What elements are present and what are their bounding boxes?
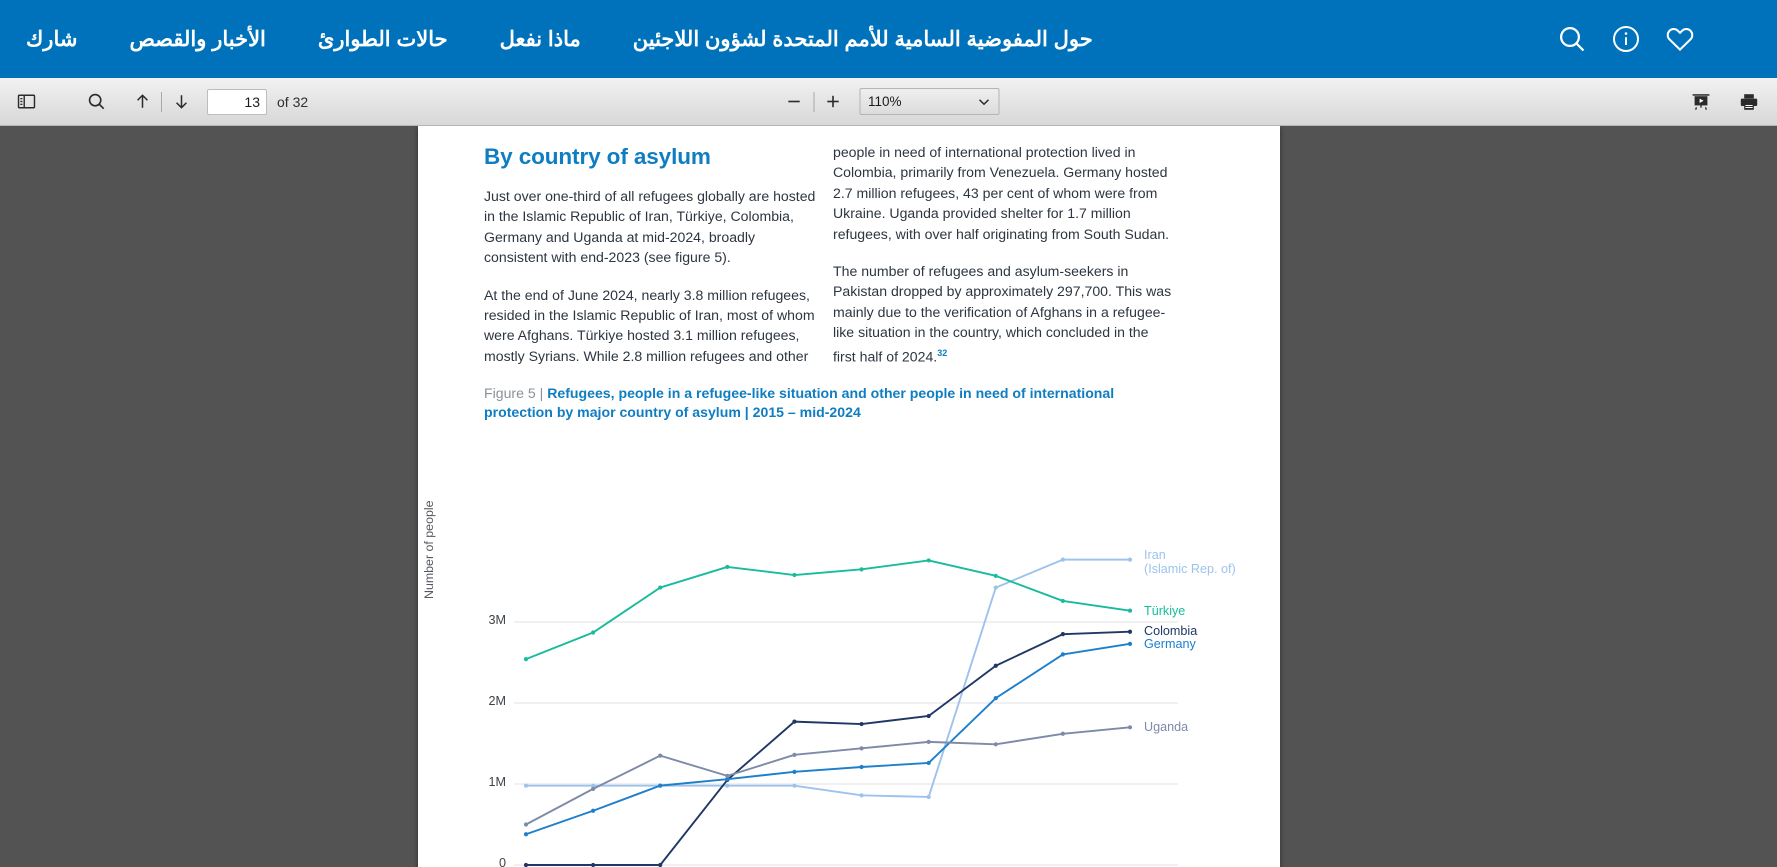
data-point: [1061, 558, 1065, 562]
data-point: [994, 574, 998, 578]
series-label-sublabel: (Islamic Rep. of): [1144, 562, 1236, 577]
data-point: [1128, 609, 1132, 613]
data-point: [725, 565, 729, 569]
nav-link-emergencies[interactable]: حالات الطوارئ: [292, 27, 474, 52]
pdf-toolbar-left-group: 13 of 32: [0, 87, 308, 117]
heart-icon[interactable]: [1665, 24, 1695, 54]
data-point: [1128, 558, 1132, 562]
paragraph: people in need of international protecti…: [833, 142, 1173, 244]
figure-caption-separator: |: [536, 385, 548, 401]
data-point: [658, 585, 662, 589]
y-axis-tick-label: 3M: [472, 613, 506, 627]
search-icon[interactable]: [1557, 24, 1587, 54]
nav-link-news-stories[interactable]: الأخبار والقصص: [103, 27, 291, 52]
find-search-icon[interactable]: [80, 87, 112, 117]
toolbar-divider: [813, 92, 814, 112]
data-point: [792, 720, 796, 724]
data-point: [927, 740, 931, 744]
data-point: [1128, 725, 1132, 729]
data-point: [994, 664, 998, 668]
nav-link-what-we-do[interactable]: ماذا نفعل: [474, 27, 607, 52]
info-icon[interactable]: [1611, 24, 1641, 54]
zoom-out-button[interactable]: [778, 87, 810, 117]
data-point: [994, 696, 998, 700]
figure-5-line-chart: Number of people 01M2M3M 201520162017201…: [418, 421, 1280, 867]
data-point: [524, 863, 528, 867]
data-point: [927, 714, 931, 718]
data-point: [1128, 630, 1132, 634]
footnote-marker[interactable]: 32: [937, 348, 947, 358]
series-legend-label: Türkiye: [1144, 604, 1185, 619]
site-navbar: حول المفوضية السامية للأمم المتحدة لشؤون…: [0, 0, 1777, 78]
section-heading: By country of asylum: [484, 144, 711, 170]
data-point: [591, 863, 595, 867]
next-page-arrow-down-icon[interactable]: [165, 87, 197, 117]
figure-number: Figure 5: [484, 385, 536, 401]
data-point: [591, 809, 595, 813]
data-point: [792, 753, 796, 757]
toolbar-divider: [161, 92, 162, 112]
sidebar-toggle-icon[interactable]: [10, 87, 42, 117]
series-label-name: Germany: [1144, 637, 1196, 652]
page-number-input[interactable]: 13: [207, 89, 267, 115]
body-text-right-column: people in need of international protecti…: [833, 142, 1173, 367]
data-point: [792, 573, 796, 577]
data-point: [859, 765, 863, 769]
data-point: [524, 822, 528, 826]
series-line: [526, 560, 1130, 797]
series-legend-label: Germany: [1144, 637, 1196, 652]
data-point: [927, 795, 931, 799]
nav-link-about[interactable]: حول المفوضية السامية للأمم المتحدة لشؤون…: [607, 27, 1119, 52]
data-point: [859, 567, 863, 571]
body-text-left-column: Just over one-third of all refugees glob…: [484, 186, 816, 366]
series-legend-label: Iran(Islamic Rep. of): [1144, 548, 1236, 577]
previous-page-arrow-up-icon[interactable]: [126, 87, 158, 117]
y-axis-tick-label: 0: [472, 856, 506, 867]
data-point: [792, 784, 796, 788]
pdf-toolbar-zoom-group: 110%: [778, 87, 999, 117]
figure-date-range: 2015 – mid-2024: [753, 404, 861, 420]
series-line: [526, 632, 1130, 865]
paragraph: At the end of June 2024, nearly 3.8 mill…: [484, 285, 816, 367]
data-point: [1061, 652, 1065, 656]
data-point: [859, 746, 863, 750]
data-point: [725, 774, 729, 778]
y-axis-tick-label: 1M: [472, 775, 506, 789]
figure-caption-separator-2: |: [741, 404, 753, 420]
data-point: [859, 793, 863, 797]
series-label-name: Uganda: [1144, 720, 1188, 735]
paragraph-text: The number of refugees and asylum-seeker…: [833, 263, 1171, 364]
pdf-toolbar-right-group: [1685, 87, 1765, 117]
series-legend-label: Uganda: [1144, 720, 1188, 735]
data-point: [591, 630, 595, 634]
paragraph: Just over one-third of all refugees glob…: [484, 186, 816, 268]
series-label-name: Türkiye: [1144, 604, 1185, 619]
zoom-level-select[interactable]: 110%: [859, 88, 999, 115]
page-count-label: of 32: [277, 94, 308, 110]
data-point: [927, 761, 931, 765]
data-point: [1128, 642, 1132, 646]
zoom-level-value: 110%: [868, 94, 902, 109]
data-point: [524, 784, 528, 788]
series-label-name: Iran: [1144, 548, 1236, 563]
data-point: [1061, 732, 1065, 736]
data-point: [658, 863, 662, 867]
data-point: [524, 832, 528, 836]
figure-caption: Figure 5 | Refugees, people in a refugee…: [484, 384, 1184, 422]
series-line: [526, 727, 1130, 824]
data-point: [994, 742, 998, 746]
data-point: [994, 585, 998, 589]
paragraph: The number of refugees and asylum-seeker…: [833, 261, 1173, 367]
data-point: [725, 784, 729, 788]
chevron-down-icon: [978, 94, 989, 109]
data-point: [927, 558, 931, 562]
data-point: [1061, 599, 1065, 603]
pdf-page-13: By country of asylum Just over one-third…: [418, 126, 1280, 867]
presentation-mode-icon[interactable]: [1685, 87, 1717, 117]
data-point: [1061, 632, 1065, 636]
print-icon[interactable]: [1733, 87, 1765, 117]
navbar-icons: [1557, 24, 1695, 54]
navbar-links: حول المفوضية السامية للأمم المتحدة لشؤون…: [0, 27, 1119, 52]
data-point: [658, 754, 662, 758]
pdf-toolbar: 13 of 32 110%: [0, 78, 1777, 126]
data-point: [792, 770, 796, 774]
y-axis-tick-label: 2M: [472, 694, 506, 708]
data-point: [524, 657, 528, 661]
zoom-in-button[interactable]: [817, 87, 849, 117]
data-point: [859, 722, 863, 726]
y-axis-label: Number of people: [422, 501, 436, 600]
data-point: [591, 787, 595, 791]
series-line: [526, 644, 1130, 834]
pdf-viewport[interactable]: By country of asylum Just over one-third…: [0, 126, 1777, 867]
data-point: [658, 784, 662, 788]
nav-link-get-involved[interactable]: شارك: [0, 27, 103, 52]
